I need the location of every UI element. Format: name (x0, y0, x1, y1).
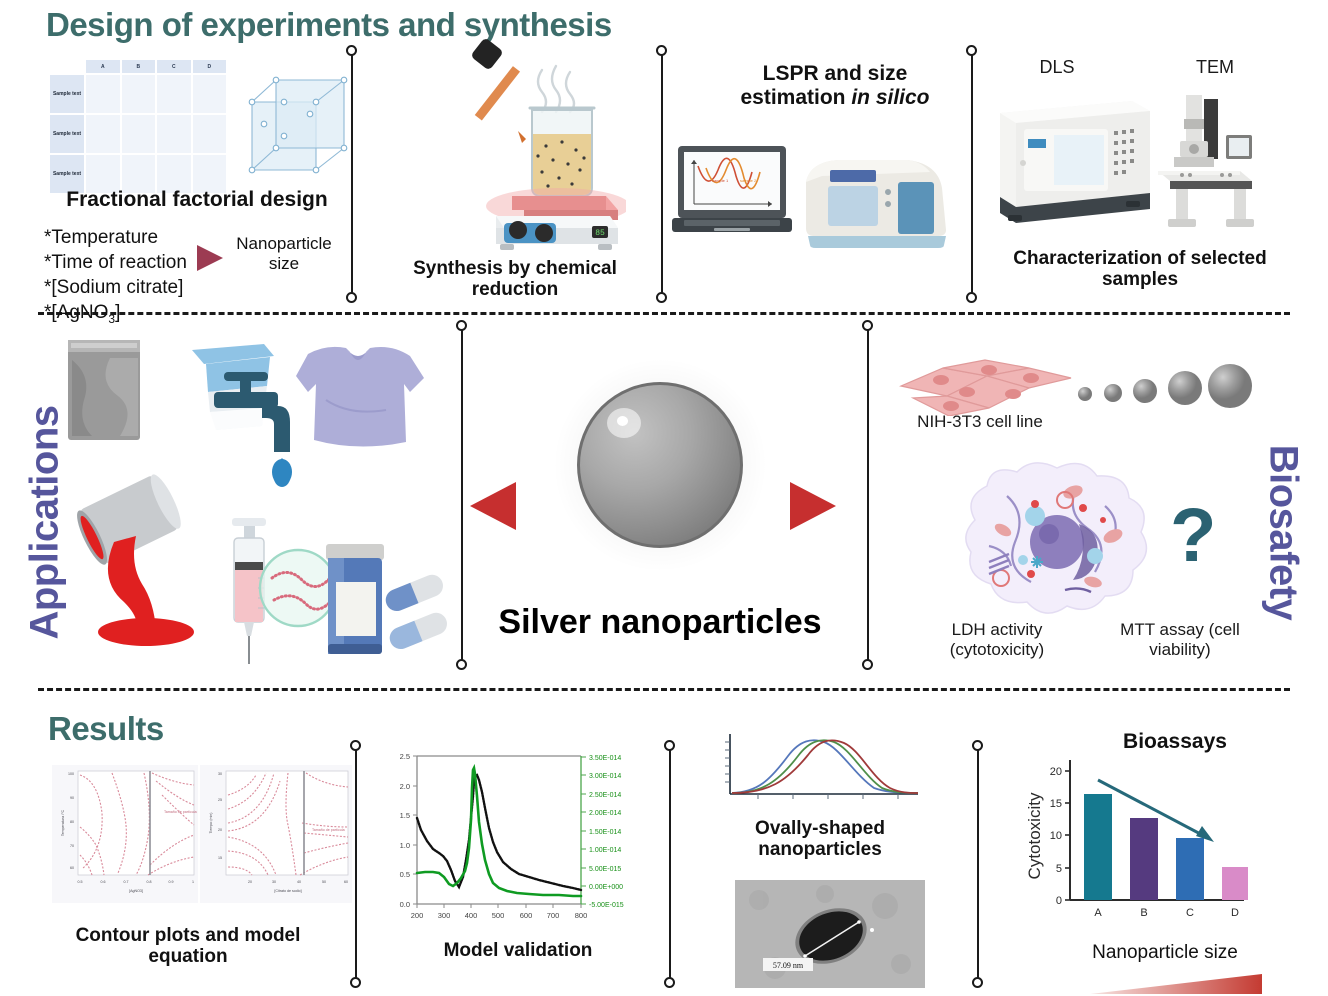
question-mark-icon: ? (1170, 492, 1216, 579)
doe-response-label: Nanoparticle size (224, 234, 344, 275)
svg-text:sample 1: sample 1 (712, 178, 729, 183)
svg-text:60: 60 (344, 880, 348, 884)
svg-text:B: B (1140, 907, 1147, 919)
svg-text:60: 60 (70, 866, 74, 870)
svg-text:600: 600 (520, 911, 533, 920)
svg-text:10: 10 (1050, 830, 1062, 842)
center-title: Silver nanoparticles (470, 603, 850, 642)
svg-text:700: 700 (547, 911, 560, 920)
response-arrow-icon (197, 245, 223, 271)
fractional-factorial-table: A B C D Sample text Sample text Sample (48, 58, 228, 195)
nanoparticle-size-series-icon (1075, 360, 1255, 416)
contour-caption: Contour plots and model equation (38, 925, 338, 968)
stirrer-body: 85 (496, 216, 618, 250)
oval-nanoparticles-caption: Ovally-shaped nanoparticles (700, 818, 940, 861)
svg-text:0: 0 (1056, 895, 1062, 907)
table-row-label: Sample text (50, 115, 84, 153)
svg-text:0.7: 0.7 (124, 880, 129, 884)
svg-text:0.8: 0.8 (147, 880, 152, 884)
svg-text:5.00E-015: 5.00E-015 (589, 866, 621, 873)
svg-text:0.5: 0.5 (400, 870, 410, 879)
svg-text:[AgNO3]: [AgNO3] (129, 889, 143, 893)
doe-factor-temperature: *Temperature (44, 225, 187, 250)
svg-text:30: 30 (272, 880, 276, 884)
characterization-caption: Characterization of selected samples (1000, 248, 1280, 291)
hotplate-beaker-illustration: 85 (396, 38, 626, 253)
svg-text:Temperatura /°C: Temperatura /°C (61, 810, 65, 837)
table-cell (193, 115, 227, 153)
svg-text:3.50E-014: 3.50E-014 (589, 755, 621, 762)
dropper-icon (470, 38, 526, 143)
arrow-right-biosafety (790, 482, 836, 530)
table-header-b: B (122, 60, 156, 73)
svg-text:100: 100 (68, 772, 74, 776)
animal-cell-icon (945, 450, 1165, 625)
svg-text:25: 25 (218, 798, 222, 802)
svg-text:A: A (1094, 907, 1102, 919)
silver-nanoparticle-sphere (555, 360, 765, 570)
lspr-line2: estimation (740, 86, 851, 109)
model-validation-chart: 0.00.5 1.01.5 2.02.5 200300400 500600700… (383, 748, 653, 933)
ldh-activity-label: LDH activity (cytotoxicity) (922, 620, 1072, 661)
svg-text:800: 800 (575, 911, 588, 920)
size-gradient-triangle (1090, 974, 1262, 994)
svg-text:1.5: 1.5 (400, 811, 410, 820)
doe-factor-list: *Temperature *Time of reaction *[Sodium … (44, 225, 187, 328)
sphere-body (577, 382, 743, 548)
factorial-cube-icon (244, 72, 354, 187)
petri-dish-icon (260, 550, 336, 626)
svg-text:20: 20 (1050, 766, 1062, 778)
arrow-left-applications (470, 482, 516, 530)
doe-factor-time: *Time of reaction (44, 250, 187, 275)
tshirt-icon (296, 347, 424, 447)
beaker-icon (530, 108, 594, 196)
svg-text:40: 40 (297, 880, 301, 884)
svg-text:400: 400 (465, 911, 478, 920)
svg-text:15: 15 (218, 856, 222, 860)
tem-label: TEM (1170, 57, 1260, 79)
svg-text:0.5: 0.5 (78, 880, 83, 884)
table-cell (122, 115, 156, 153)
bar-d (1222, 867, 1248, 900)
svg-text:20: 20 (218, 828, 222, 832)
svg-text:200: 200 (411, 911, 424, 920)
svg-text:D: D (1231, 907, 1239, 919)
side-label-biosafety: Biosafety (1261, 383, 1306, 683)
table-corner (50, 60, 84, 73)
table-header-a: A (86, 60, 120, 73)
hotplate-display: 85 (595, 229, 605, 238)
table-row: Sample text (50, 115, 226, 153)
table-cell (157, 115, 191, 153)
svg-text:Tamaño de partícula: Tamaño de partícula (164, 810, 197, 814)
table-cell (157, 75, 191, 113)
svg-text:2.5: 2.5 (400, 752, 410, 761)
timeline-separator-r2 (664, 740, 676, 988)
svg-text:1.0: 1.0 (400, 841, 410, 850)
capsules-icon (382, 571, 448, 652)
svg-text:90: 90 (70, 796, 74, 800)
doe-factor-citrate: *[Sodium citrate] (44, 275, 187, 300)
table-header-d: D (193, 60, 227, 73)
section-header-results: Results (48, 710, 164, 748)
timeline-separator-mid-right (862, 320, 874, 670)
svg-text:0.00E+000: 0.00E+000 (589, 884, 623, 891)
tem-measurement-label: 57.09 nm (773, 961, 804, 970)
food-packaging-icon (68, 340, 140, 440)
paint-can-icon (72, 471, 194, 646)
table-row-label: Sample text (50, 75, 84, 113)
svg-text:20: 20 (248, 880, 252, 884)
pill-bottle-icon (326, 544, 384, 654)
dls-instrument-icon (1000, 101, 1150, 223)
sphere-specular-dot (617, 416, 628, 426)
table-header-c: C (157, 60, 191, 73)
svg-text:1: 1 (192, 880, 194, 884)
bioassays-title: Bioassays (1085, 730, 1265, 754)
bar-a (1084, 794, 1112, 900)
svg-text:0.9: 0.9 (169, 880, 174, 884)
table-cell (86, 75, 120, 113)
svg-text:15: 15 (1050, 798, 1062, 810)
dls-tem-instruments-illustration (990, 85, 1280, 235)
svg-text:[Citrato de sodio]: [Citrato de sodio] (274, 889, 301, 893)
model-validation-caption: Model validation (398, 940, 638, 961)
cell-monolayer-icon (895, 358, 1075, 416)
svg-text:50: 50 (322, 880, 326, 884)
svg-text:Tiempo (min): Tiempo (min) (209, 812, 213, 833)
table-cell (122, 75, 156, 113)
bar-chart-xlabel: Nanoparticle size (1055, 942, 1275, 963)
svg-text:2.0: 2.0 (400, 782, 410, 791)
timeline-separator-r3 (972, 740, 984, 988)
size-distribution-chart (718, 730, 923, 805)
svg-text:0.0: 0.0 (400, 900, 410, 909)
svg-text:0.6: 0.6 (101, 880, 106, 884)
fractional-factorial-caption: Fractional factorial design (42, 188, 352, 212)
contour-plot-citrate: Tamaño de partícula 30 25 20 15 20 30 40… (209, 771, 348, 893)
section-divider-bottom (38, 688, 1290, 691)
nih-3t3-label: NIH-3T3 cell line (900, 412, 1060, 432)
svg-text:2.00E-014: 2.00E-014 (589, 810, 621, 817)
lspr-line2-italic: in silico (851, 86, 929, 109)
svg-text:3.00E-014: 3.00E-014 (589, 773, 621, 780)
yogurt-cup-icon (192, 344, 274, 430)
svg-text:1.50E-014: 1.50E-014 (589, 829, 621, 836)
laptop-spectrophotometer-illustration: sample 1 sample 2 (672, 142, 990, 252)
section-divider-top (38, 312, 1290, 315)
table-cell (86, 115, 120, 153)
synthesis-caption: Synthesis by chemical reduction (404, 258, 626, 301)
svg-text:2.50E-014: 2.50E-014 (589, 792, 621, 799)
timeline-separator-2 (656, 45, 668, 303)
mtt-assay-label: MTT assay (cell viability) (1100, 620, 1260, 661)
svg-text:sample 2: sample 2 (740, 178, 757, 183)
svg-text:Tamaño de partícula: Tamaño de partícula (312, 828, 345, 832)
graphical-abstract: Design of experiments and synthesis Resu… (0, 0, 1328, 996)
table-cell (193, 75, 227, 113)
svg-text:1.00E-014: 1.00E-014 (589, 847, 621, 854)
laptop-icon: sample 1 sample 2 (672, 146, 792, 232)
dls-label: DLS (1012, 57, 1102, 79)
svg-text:300: 300 (438, 911, 451, 920)
applications-icons-group (58, 330, 448, 670)
tem-micrograph: 57.09 nm (735, 880, 925, 988)
lspr-line1: LSPR and size (763, 62, 908, 85)
bar-b (1130, 818, 1158, 900)
svg-text:C: C (1186, 907, 1194, 919)
bar-chart-ylabel: Cytotoxicity (1025, 792, 1044, 879)
table-row: Sample text (50, 75, 226, 113)
lspr-caption: LSPR and size estimation in silico (690, 62, 980, 109)
svg-text:30: 30 (218, 772, 222, 776)
timeline-separator-mid-left (456, 320, 468, 670)
bar-c (1176, 838, 1204, 900)
tem-instrument-icon (1158, 95, 1254, 227)
svg-text:500: 500 (492, 911, 505, 920)
dist-series-1 (732, 740, 918, 793)
doe-factor-agno3: *[AgNO3] (44, 300, 187, 328)
svg-text:80: 80 (70, 820, 74, 824)
contour-plot-agno3: Tamaño de partícula 100 90 80 70 60 0.5 … (61, 771, 197, 893)
bioassays-bar-chart: 05 101520 AB CD Cytotoxicity (1022, 752, 1262, 932)
spectrophotometer-icon (806, 160, 946, 248)
svg-text:5: 5 (1056, 863, 1062, 875)
svg-text:-5.00E-015: -5.00E-015 (589, 902, 624, 909)
contour-plots-figure: Tamaño de partícula 100 90 80 70 60 0.5 … (52, 765, 352, 905)
svg-text:70: 70 (70, 844, 74, 848)
